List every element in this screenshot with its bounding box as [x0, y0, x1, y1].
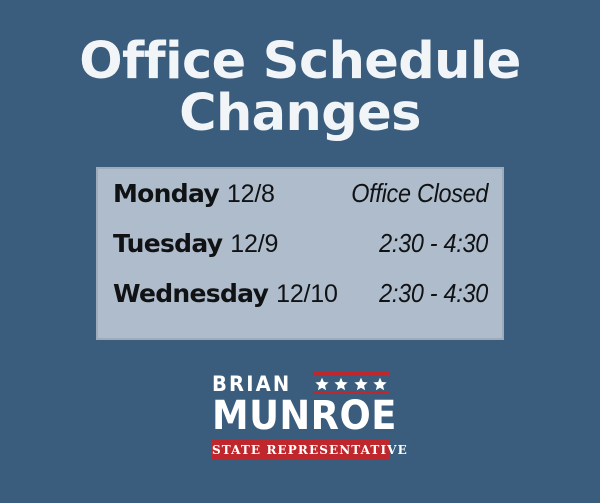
star-icon	[315, 377, 329, 391]
logo-stars-block	[313, 372, 389, 394]
schedule-hours: Office Closed	[351, 180, 488, 206]
schedule-day-name: Monday	[113, 179, 219, 208]
office-schedule-poster: Office Schedule Changes Monday 12/8 Offi…	[0, 0, 600, 503]
schedule-day-name: Wednesday	[113, 279, 268, 308]
schedule-day-date: 12/8	[227, 180, 275, 208]
schedule-row-monday: Monday 12/8 Office Closed	[113, 180, 488, 230]
schedule-row-wednesday: Wednesday 12/10 2:30 - 4:30	[113, 280, 488, 330]
star-icon	[373, 377, 387, 391]
star-icon	[354, 377, 368, 391]
schedule-day-name: Tuesday	[113, 229, 222, 258]
page-title-line-1: Office Schedule	[0, 36, 600, 88]
schedule-row-day-date: Monday 12/8	[113, 181, 275, 207]
schedule-panel: Monday 12/8 Office Closed Tuesday 12/9 2…	[96, 167, 504, 340]
logo-last-name: MUNROE	[212, 396, 375, 436]
logo-bar-top-icon	[313, 372, 389, 375]
schedule-row-day-date: Tuesday 12/9	[113, 231, 278, 257]
page-title-line-2: Changes	[0, 88, 600, 140]
schedule-hours: 2:30 - 4:30	[379, 230, 488, 256]
schedule-day-date: 12/10	[276, 280, 338, 308]
page-title: Office Schedule Changes	[0, 36, 600, 140]
star-icon	[334, 377, 348, 391]
logo-top-row: BRIAN	[212, 372, 389, 395]
brian-munroe-logo: BRIAN MUNROE STATE REPRESENTATIVE	[212, 372, 389, 460]
logo-first-name: BRIAN	[212, 374, 291, 395]
schedule-row-tuesday: Tuesday 12/9 2:30 - 4:30	[113, 230, 488, 280]
schedule-hours: 2:30 - 4:30	[379, 280, 488, 306]
logo-tagline-banner: STATE REPRESENTATIVE	[212, 440, 389, 460]
schedule-row-day-date: Wednesday 12/10	[113, 281, 338, 307]
logo-stars	[313, 376, 389, 391]
schedule-day-date: 12/9	[230, 230, 278, 258]
